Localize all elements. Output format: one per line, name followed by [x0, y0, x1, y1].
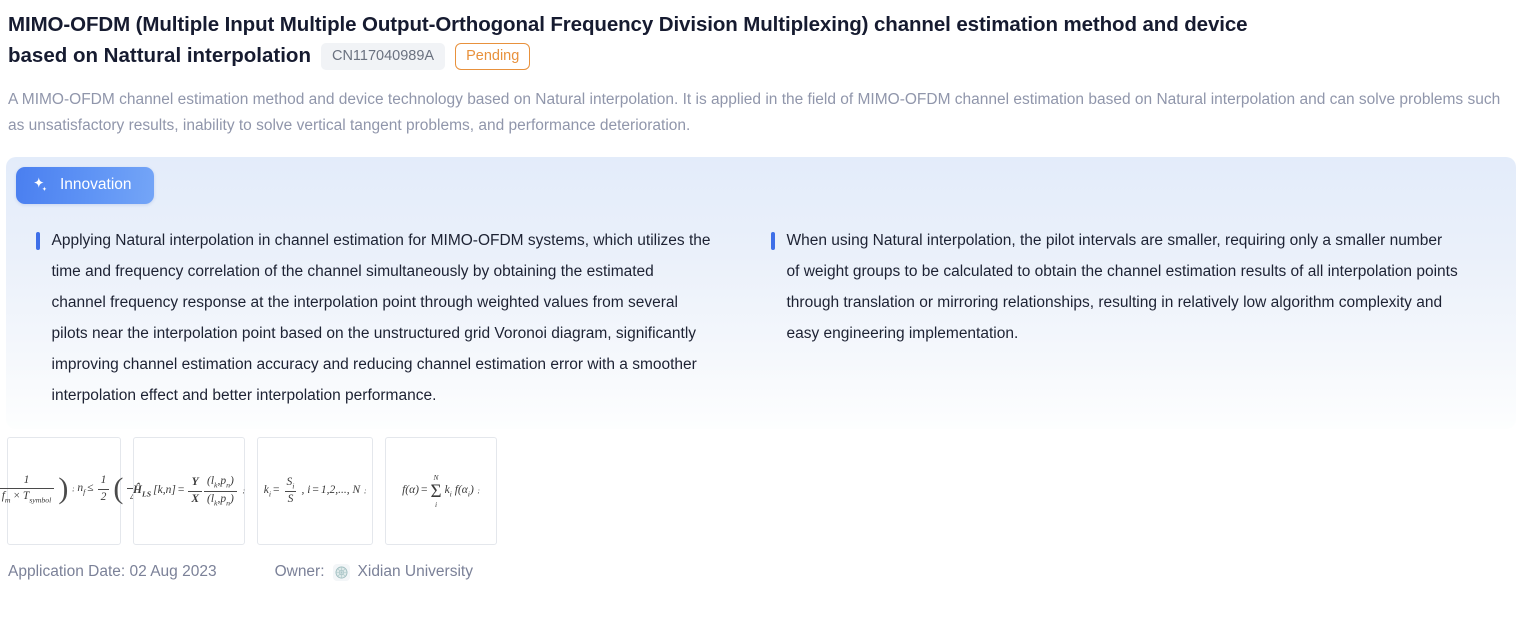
innovation-bullet: Applying Natural interpolation in channe…: [36, 225, 731, 411]
tab-innovation[interactable]: Innovation: [16, 167, 154, 204]
tab-innovation-label: Innovation: [60, 176, 132, 194]
innovation-panel: Innovation Applying Natural interpolatio…: [6, 157, 1516, 429]
innovation-bullet-text: Applying Natural interpolation in channe…: [52, 225, 712, 411]
owner-label: Owner:: [275, 563, 325, 581]
status-badge: Pending: [455, 43, 530, 70]
patent-card: MIMO-OFDM (Multiple Input Multiple Outpu…: [0, 0, 1536, 621]
innovation-columns: Applying Natural interpolation in channe…: [6, 157, 1516, 411]
page-title-line2: based on Nattural interpolation: [8, 41, 311, 71]
formula-weight-ratio[interactable]: ki = SiS , i=1,2,..., N ;: [257, 437, 373, 545]
abstract-text: A MIMO-OFDM channel estimation method an…: [8, 87, 1516, 139]
formula-natural-interp[interactable]: f(α) = N Σ i ki f(αi) ;: [385, 437, 497, 545]
application-date-value: 02 Aug 2023: [130, 563, 217, 580]
formula-pilot-spacing[interactable]: nt≤ 12 ( 1fm × Tsymbol ) ; nf≤ 12 ( 1Δf …: [7, 437, 121, 545]
innovation-bullet: When using Natural interpolation, the pi…: [771, 225, 1486, 349]
innovation-column-left: Applying Natural interpolation in channe…: [6, 225, 761, 411]
footer: Application Date: 02 Aug 2023 Owner: Xid…: [8, 563, 1536, 581]
title-block: MIMO-OFDM (Multiple Input Multiple Outpu…: [0, 0, 1536, 71]
bullet-marker-icon: [36, 232, 40, 250]
title-second-row: based on Nattural interpolation CN117040…: [8, 41, 1518, 71]
formula-ls-estimate[interactable]: ĤLS[k,n] = Y X (lk,pn) (lk,pn) ;: [133, 437, 245, 545]
application-date-label: Application Date:: [8, 563, 125, 580]
application-date: Application Date: 02 Aug 2023: [8, 563, 217, 581]
sparkle-icon: [32, 177, 49, 194]
university-crest-icon: [333, 564, 350, 581]
formula-weight-ratio-math: ki = SiS , i=1,2,..., N ;: [264, 476, 367, 507]
innovation-bullet-text: When using Natural interpolation, the pi…: [787, 225, 1459, 349]
owner-field: Owner: Xidian University: [275, 563, 473, 581]
owner-name[interactable]: Xidian University: [358, 563, 473, 581]
page-title-line1: MIMO-OFDM (Multiple Input Multiple Outpu…: [8, 10, 1518, 40]
formula-natural-interp-math: f(α) = N Σ i ki f(αi) ;: [402, 474, 480, 508]
innovation-column-right: When using Natural interpolation, the pi…: [761, 225, 1516, 411]
bullet-marker-icon: [771, 232, 775, 250]
formula-ls-estimate-math: ĤLS[k,n] = Y X (lk,pn) (lk,pn) ;: [133, 475, 245, 507]
patent-number-badge[interactable]: CN117040989A: [321, 43, 445, 70]
formula-strip: nt≤ 12 ( 1fm × Tsymbol ) ; nf≤ 12 ( 1Δf …: [7, 437, 1536, 545]
